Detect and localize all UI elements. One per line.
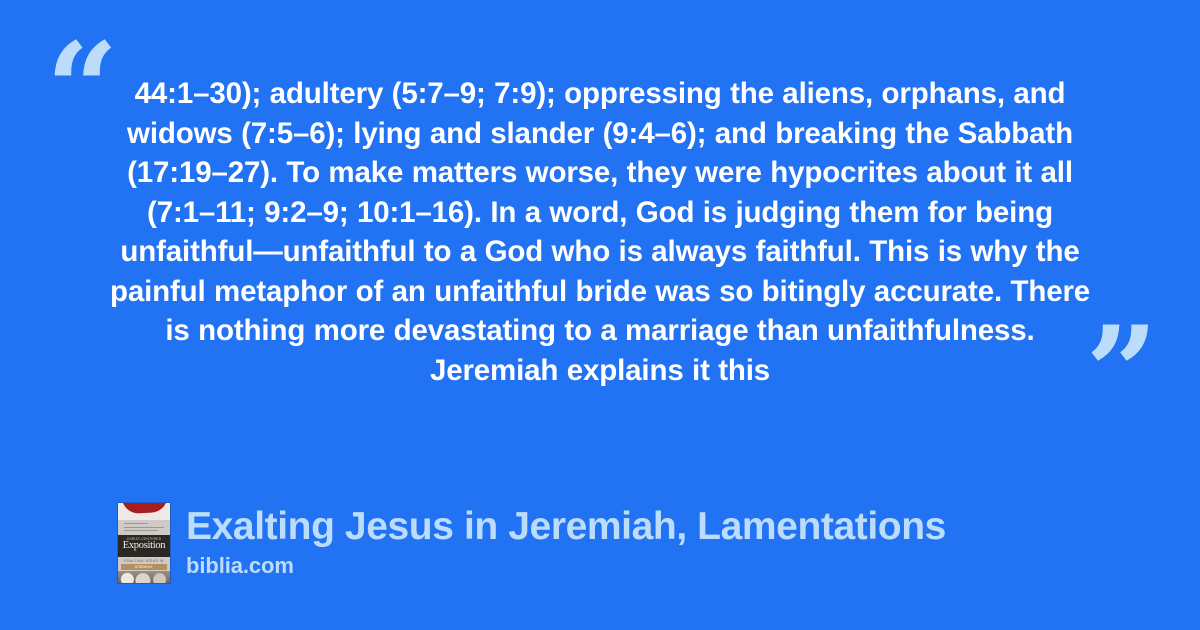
footer-text-group: Exalting Jesus in Jeremiah, Lamentations… bbox=[186, 503, 946, 579]
site-url[interactable]: biblia.com bbox=[186, 553, 946, 579]
book-cover-authors: JEREMIAH, LAMENTATIONS bbox=[121, 564, 167, 570]
footer: CHRIST-CENTERED Exposition EXALTING JESU… bbox=[118, 503, 946, 583]
book-cover-photo bbox=[118, 571, 170, 583]
book-cover-top-band bbox=[118, 503, 170, 520]
book-cover-rule bbox=[124, 530, 158, 531]
book-cover-rule bbox=[124, 523, 148, 524]
quote-card: “ 44:1–30); adultery (5:7–9; 7:9); oppre… bbox=[0, 0, 1200, 630]
closing-quote-icon: ” bbox=[1086, 310, 1156, 436]
book-cover-rule bbox=[124, 527, 164, 528]
book-cover-red-swoosh bbox=[122, 503, 169, 514]
book-cover-title: Exposition bbox=[118, 540, 170, 551]
book-cover-thumbnail[interactable]: CHRIST-CENTERED Exposition EXALTING JESU… bbox=[118, 503, 170, 583]
quote-text: 44:1–30); adultery (5:7–9; 7:9); oppress… bbox=[104, 74, 1096, 390]
book-title[interactable]: Exalting Jesus in Jeremiah, Lamentations bbox=[186, 504, 946, 550]
book-cover-subtitle: EXALTING JESUS IN bbox=[118, 559, 170, 563]
